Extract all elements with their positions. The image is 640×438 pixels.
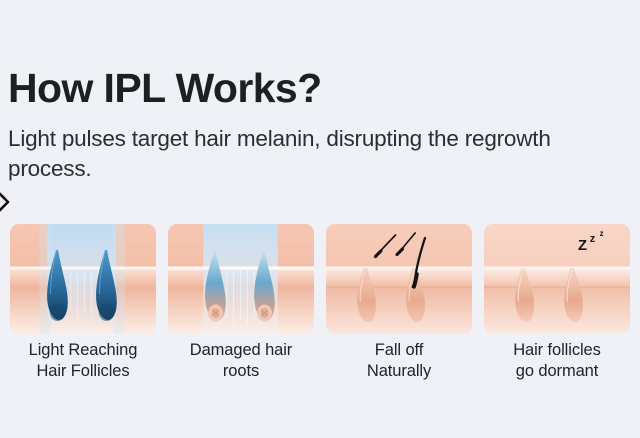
step-1-panel[interactable]	[10, 224, 156, 334]
caption-step-3: Fall off Naturally	[326, 340, 472, 390]
step-4-illustration-wrap: Z z z	[484, 224, 630, 334]
svg-text:z: z	[590, 233, 596, 245]
cursor-arrow-icon	[0, 186, 18, 220]
caption-step-3-line-2: Naturally	[326, 361, 472, 382]
svg-text:z: z	[600, 229, 604, 238]
page-subtitle: Light pulses target hair melanin, disrup…	[8, 124, 624, 183]
step-2-panel[interactable]	[168, 224, 314, 334]
page-title: How IPL Works?	[8, 68, 322, 109]
caption-step-4: Hair follicles go dormant	[484, 340, 630, 390]
caption-step-4-line-2: go dormant	[484, 361, 630, 382]
step-3-panel[interactable]	[326, 224, 472, 334]
step-4-panel[interactable]: Z z z	[484, 224, 630, 334]
step-1-illustration-wrap	[10, 224, 156, 334]
caption-step-4-line-1: Hair follicles	[484, 340, 630, 361]
caption-step-3-line-1: Fall off	[326, 340, 472, 361]
caption-step-2-line-1: Damaged hair	[168, 340, 314, 361]
step-2-illustration-wrap	[168, 224, 314, 334]
step-illustrations-row: Z z z	[10, 224, 630, 334]
caption-step-2: Damaged hair roots	[168, 340, 314, 390]
infographic-stage: How IPL Works? Light pulses target hair …	[0, 0, 640, 438]
caption-step-1-line-1: Light Reaching	[10, 340, 156, 361]
caption-step-2-line-2: roots	[168, 361, 314, 382]
step-3-illustration-wrap	[326, 224, 472, 334]
caption-step-1-line-2: Hair Follicles	[10, 361, 156, 382]
step-captions-row: Light Reaching Hair Follicles Damaged ha…	[10, 340, 630, 390]
svg-text:Z: Z	[578, 238, 587, 254]
caption-step-1: Light Reaching Hair Follicles	[10, 340, 156, 390]
